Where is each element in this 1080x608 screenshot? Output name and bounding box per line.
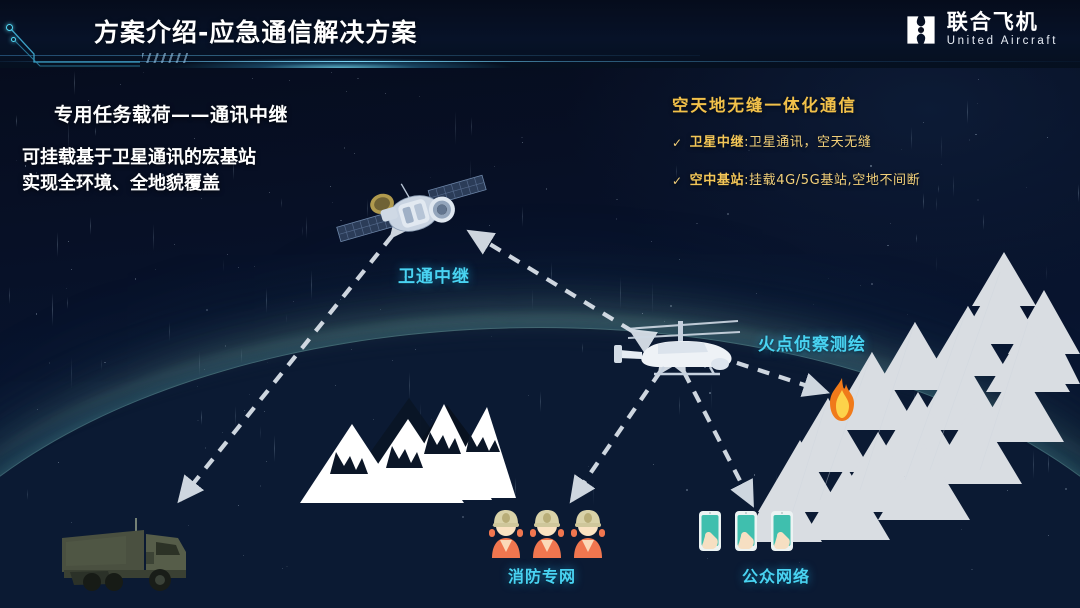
logo-text-en: United Aircraft <box>947 36 1058 48</box>
truck-icon <box>52 508 214 600</box>
bullet-2-term: 空中基站 <box>690 173 744 188</box>
link-satellite-truck <box>180 236 392 500</box>
smartphone-figure <box>771 511 793 551</box>
left-text-panel: 专用任务载荷——通讯中继 可挂载基于卫星通讯的宏基站 实现全环境、全地貌覆盖 <box>22 100 352 197</box>
right-panel-bullet-1: ✓ 卫星中继:卫星通讯，空天无缝 <box>672 133 1002 154</box>
united-aircraft-logo-mark <box>904 13 938 47</box>
label-fire-scout: 火点侦察测绘 <box>758 330 866 355</box>
check-icon: ✓ <box>672 171 683 192</box>
check-icon: ✓ <box>672 133 683 154</box>
left-panel-body-line1: 可挂载基于卫星通讯的宏基站 <box>22 145 352 171</box>
firefighter-figure <box>489 510 523 558</box>
left-panel-heading: 专用任务载荷——通讯中继 <box>54 100 352 127</box>
logo-text-cn: 联合飞机 <box>947 12 1058 33</box>
right-text-panel: 空天地无缝一体化通信 ✓ 卫星中继:卫星通讯，空天无缝 ✓ 空中基站:挂载4G/… <box>672 92 1002 192</box>
helicopter-icon <box>612 308 754 380</box>
firefighters-icon <box>488 500 606 558</box>
slide-root: 卫通中继 火点侦察测绘 消防专网 公众网络 专用任务载荷——通讯中继 可挂载基于… <box>0 0 1080 608</box>
bullet-1-term: 卫星中继 <box>690 135 744 150</box>
firefighter-figure <box>530 510 564 558</box>
right-panel-bullet-2: ✓ 空中基站:挂载4G/5G基站,空地不间断 <box>672 171 1002 192</box>
smartphone-figure <box>735 511 757 551</box>
slide-header: 方案介绍-应急通信解决方案 联合飞机 United Aircraft <box>0 0 1080 68</box>
bullet-2-text: 空中基站:挂载4G/5G基站,空地不间断 <box>690 171 921 192</box>
satellite-icon <box>330 162 495 267</box>
left-panel-body: 可挂载基于卫星通讯的宏基站 实现全环境、全地貌覆盖 <box>22 145 352 197</box>
firefighter-figure <box>571 510 605 558</box>
label-public-network: 公众网络 <box>742 563 810 587</box>
smartphones-icon <box>694 508 806 562</box>
brand-logo: 联合飞机 United Aircraft <box>904 12 1058 48</box>
circuit-dot-primary <box>6 24 13 31</box>
bullet-2-desc: 挂载4G/5G基站,空地不间断 <box>749 173 920 188</box>
left-panel-body-line2: 实现全环境、全地貌覆盖 <box>22 171 352 197</box>
right-panel-heading: 空天地无缝一体化通信 <box>672 92 1002 116</box>
bullet-1-text: 卫星中继:卫星通讯，空天无缝 <box>690 133 872 154</box>
page-title: 方案介绍-应急通信解决方案 <box>94 13 417 49</box>
header-hatch-decoration <box>142 53 190 63</box>
link-heli-firefighters <box>572 372 660 500</box>
bullet-1-desc: 卫星通讯，空天无缝 <box>749 135 871 150</box>
smartphone-figure <box>699 511 721 551</box>
flame-icon <box>824 376 860 424</box>
label-fire-network: 消防专网 <box>508 563 576 587</box>
link-heli-phones <box>684 372 752 504</box>
circuit-dot-secondary <box>11 37 16 42</box>
label-satellite-relay: 卫通中继 <box>398 262 470 287</box>
